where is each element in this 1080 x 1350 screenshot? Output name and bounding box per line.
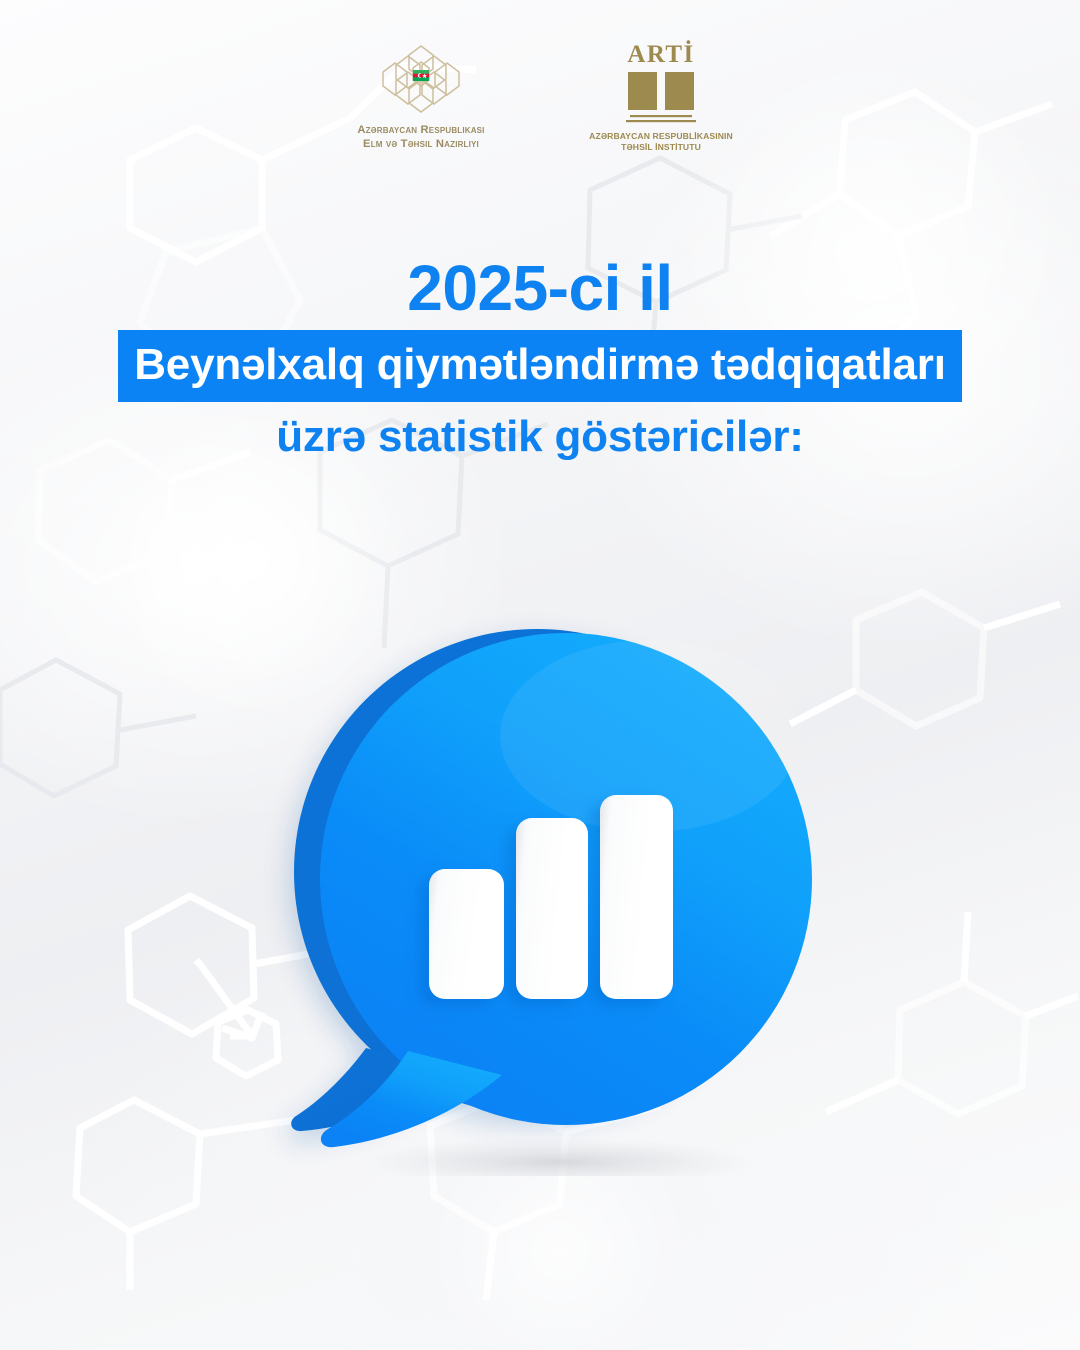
ministry-caption-line-2: Elm və Təhsil Nazirliyi — [357, 137, 484, 151]
arti-open-book-icon — [624, 70, 698, 126]
institute-caption-line-2: TƏHSİL İNSTİTUTU — [589, 142, 733, 153]
page-title-subline: üzrə statistik göstəricilər: — [0, 411, 1080, 463]
arti-wordmark: ARTİ — [627, 42, 694, 67]
azerbaijan-ministry-emblem-icon — [371, 42, 471, 116]
ministry-logo: Azərbaycan Respublikasi Elm və Təhsil Na… — [333, 42, 509, 151]
bar-1 — [429, 869, 504, 999]
institute-logo-caption: AZƏRBAYCAN RESPUBLİKASININ TƏHSİL İNSTİT… — [589, 131, 733, 152]
bar-2 — [516, 818, 588, 999]
page-title-highlight: Beynəlxalq qiymətləndirmə tədqiqatları — [118, 330, 962, 402]
page-title-year: 2025-ci il — [0, 252, 1080, 324]
header-logo-row: Azərbaycan Respublikasi Elm və Təhsil Na… — [0, 42, 1080, 152]
speech-bubble-bar-chart-icon — [258, 596, 838, 1176]
highlight-band-wrapper: Beynəlxalq qiymətləndirmə tədqiqatları — [0, 330, 1080, 402]
institute-logo: ARTİ AZƏRBAYCAN RESPUBLİKASININ TƏHSİL İ… — [575, 42, 747, 152]
bubble-ground-shadow — [362, 1137, 754, 1176]
ministry-caption-line-1: Azərbaycan Respublikasi — [357, 123, 484, 137]
bar-3 — [600, 795, 673, 999]
poster-canvas: Azərbaycan Respublikasi Elm və Təhsil Na… — [0, 0, 1080, 1350]
headline-block: 2025-ci il Beynəlxalq qiymətləndirmə təd… — [0, 252, 1080, 463]
ministry-logo-caption: Azərbaycan Respublikasi Elm və Təhsil Na… — [357, 123, 484, 151]
institute-caption-line-1: AZƏRBAYCAN RESPUBLİKASININ — [589, 131, 733, 142]
